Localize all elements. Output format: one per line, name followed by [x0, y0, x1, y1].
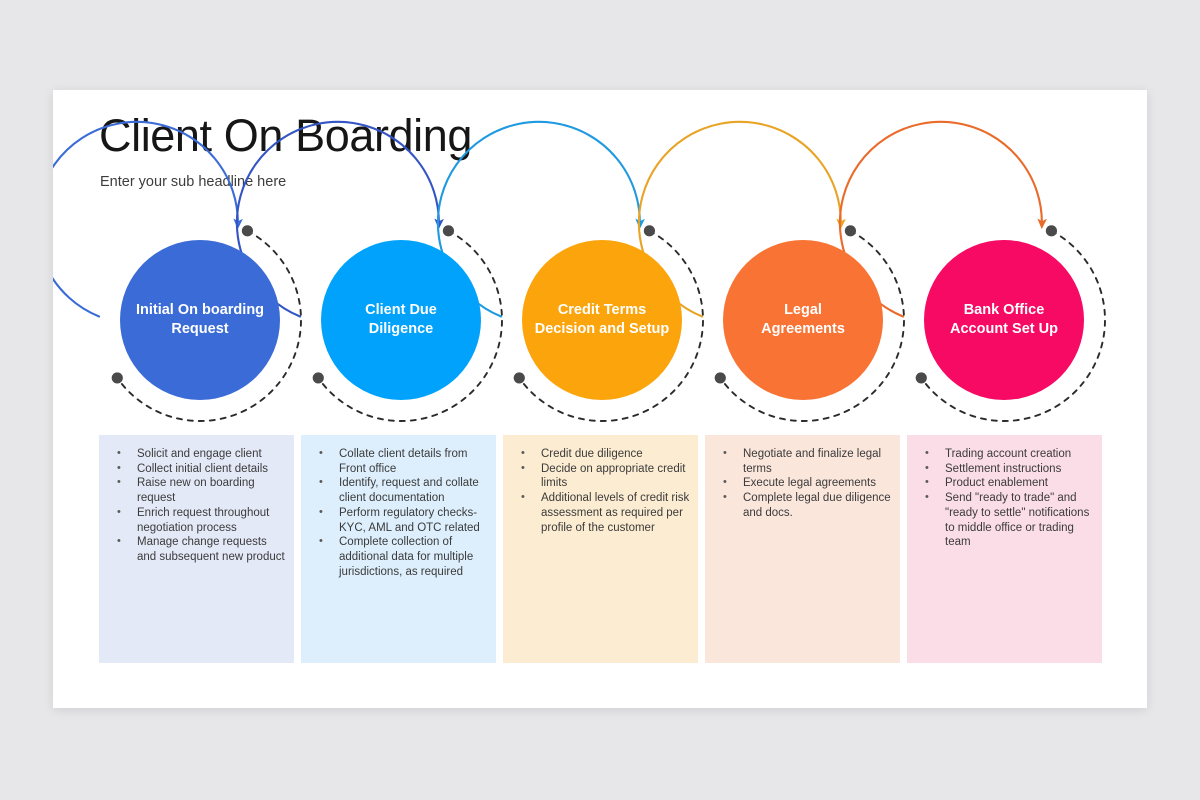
step-detail-box-initial-on-boarding-request: Solicit and engage clientCollect initial…: [99, 435, 294, 663]
ring-start-dot: [514, 372, 525, 383]
list-item: Identify, request and collate client doc…: [315, 476, 488, 505]
step-circle-label: Bank Office Account Set Up: [940, 301, 1068, 338]
list-item: Trading account creation: [921, 447, 1094, 462]
ring-end-dot: [443, 225, 454, 236]
ring-end-dot: [644, 225, 655, 236]
step-circle-label: Credit Terms Decision and Setup: [525, 301, 680, 338]
slide-canvas: Client On Boarding Enter your sub headli…: [53, 90, 1147, 708]
list-item: Complete collection of additional data f…: [315, 535, 488, 579]
step-bullet-list: Credit due diligenceDecide on appropriat…: [517, 447, 690, 535]
list-item: Enrich request throughout negotiation pr…: [113, 506, 286, 535]
step-circle-label: Client Due Diligence: [355, 301, 447, 338]
step-circle-initial-on-boarding-request[interactable]: Initial On boarding Request: [120, 240, 280, 400]
step-bullet-list: Collate client details from Front office…: [315, 447, 488, 579]
list-item: Execute legal agreements: [719, 476, 892, 491]
list-item: Credit due diligence: [517, 447, 690, 462]
step-detail-box-legal-agreements: Negotiate and finalize legal termsExecut…: [705, 435, 900, 663]
list-item: Perform regulatory checks- KYC, AML and …: [315, 506, 488, 535]
list-item: Solicit and engage client: [113, 447, 286, 462]
ring-start-dot: [112, 372, 123, 383]
step-circle-legal-agreements[interactable]: Legal Agreements: [723, 240, 883, 400]
step-detail-box-credit-terms-decision-and-setup: Credit due diligenceDecide on appropriat…: [503, 435, 698, 663]
list-item: Send "ready to trade" and "ready to sett…: [921, 491, 1094, 550]
list-item: Decide on appropriate credit limits: [517, 462, 690, 491]
ring-end-dot: [845, 225, 856, 236]
ring-end-dot: [1046, 225, 1057, 236]
list-item: Complete legal due diligence and docs.: [719, 491, 892, 520]
step-detail-box-client-due-diligence: Collate client details from Front office…: [301, 435, 496, 663]
list-item: Product enablement: [921, 476, 1094, 491]
step-bullet-list: Solicit and engage clientCollect initial…: [113, 447, 286, 565]
step-circle-label: Initial On boarding Request: [126, 301, 274, 338]
step-circle-client-due-diligence[interactable]: Client Due Diligence: [321, 240, 481, 400]
list-item: Collect initial client details: [113, 462, 286, 477]
ring-start-dot: [313, 372, 324, 383]
list-item: Collate client details from Front office: [315, 447, 488, 476]
step-bullet-list: Trading account creationSettlement instr…: [921, 447, 1094, 550]
list-item: Additional levels of credit risk assessm…: [517, 491, 690, 535]
step-detail-box-bank-office-account-set-up: Trading account creationSettlement instr…: [907, 435, 1102, 663]
step-circle-credit-terms-decision-and-setup[interactable]: Credit Terms Decision and Setup: [522, 240, 682, 400]
list-item: Manage change requests and subsequent ne…: [113, 535, 286, 564]
list-item: Raise new on boarding request: [113, 476, 286, 505]
step-bullet-list: Negotiate and finalize legal termsExecut…: [719, 447, 892, 521]
step-circle-label: Legal Agreements: [751, 301, 855, 338]
step-circle-bank-office-account-set-up[interactable]: Bank Office Account Set Up: [924, 240, 1084, 400]
list-item: Settlement instructions: [921, 462, 1094, 477]
ring-start-dot: [715, 372, 726, 383]
ring-start-dot: [916, 372, 927, 383]
ring-end-dot: [242, 225, 253, 236]
list-item: Negotiate and finalize legal terms: [719, 447, 892, 476]
